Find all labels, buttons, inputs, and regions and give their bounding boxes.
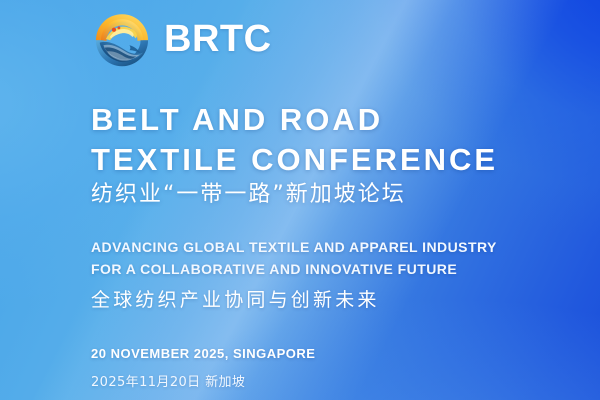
brand-wordmark: BRTC: [164, 20, 272, 58]
brand-lockup: BRTC: [91, 8, 272, 70]
poster-content: BRTC BELT AND ROAD TEXTILE CONFERENCE 纺织…: [0, 0, 600, 400]
subtitle-english-line-1: ADVANCING GLOBAL TEXTILE AND APPAREL IND…: [91, 236, 497, 258]
brtc-circular-wave-logo-icon: [91, 8, 153, 70]
event-date-chinese: 2025年11月20日 新加坡: [91, 371, 245, 390]
event-date-english: 20 NOVEMBER 2025, SINGAPORE: [91, 346, 315, 361]
page-title-line-1: BELT AND ROAD: [91, 100, 571, 140]
conference-poster: BRTC BELT AND ROAD TEXTILE CONFERENCE 纺织…: [0, 0, 600, 400]
page-title-line-2: TEXTILE CONFERENCE: [91, 140, 571, 180]
page-title: BELT AND ROAD TEXTILE CONFERENCE: [91, 100, 571, 181]
page-title-chinese: 纺织业“一带一路”新加坡论坛: [91, 181, 406, 210]
subtitle-english-line-2: FOR A COLLABORATIVE AND INNOVATIVE FUTUR…: [91, 258, 497, 280]
subtitle-chinese: 全球纺织产业协同与创新未来: [91, 288, 380, 313]
subtitle-english: ADVANCING GLOBAL TEXTILE AND APPAREL IND…: [91, 236, 497, 280]
